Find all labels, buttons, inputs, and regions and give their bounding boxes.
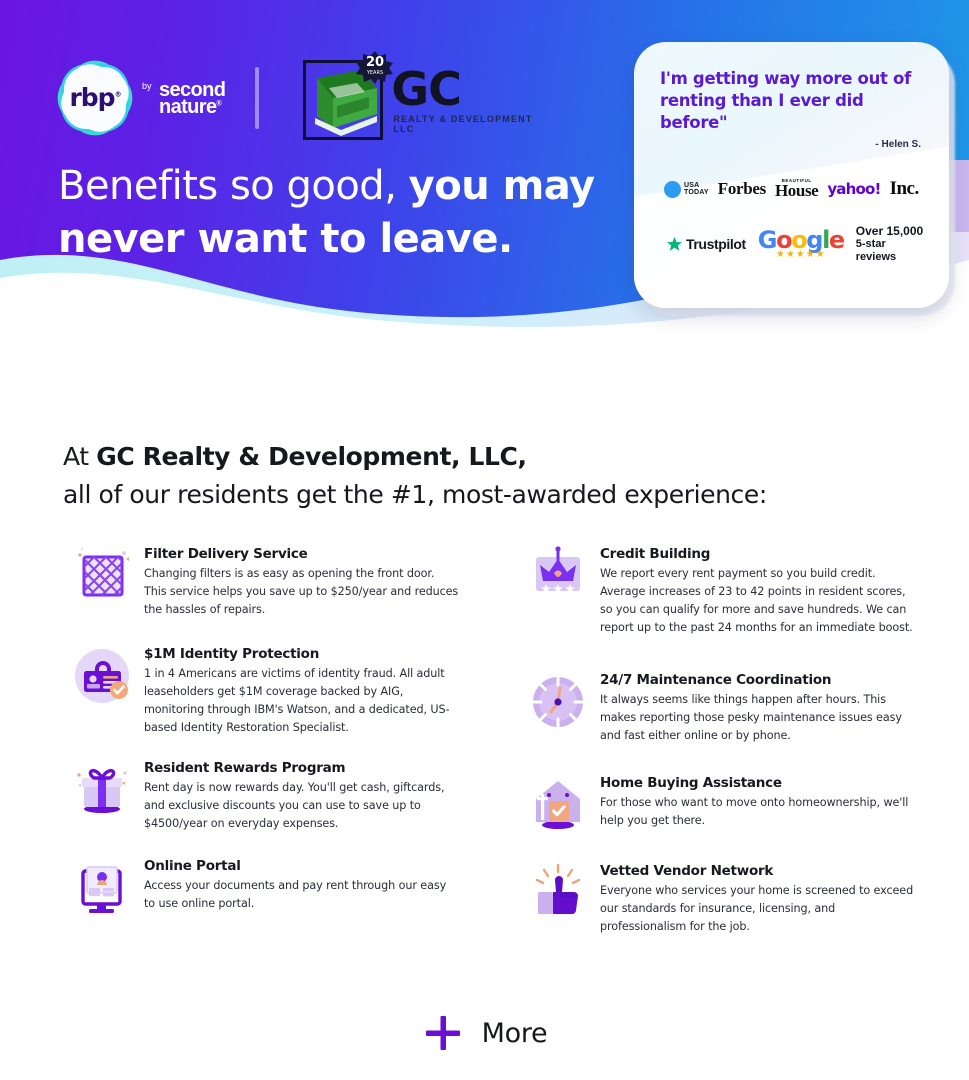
benefit-description: We report every rent payment so you buil…: [600, 565, 916, 637]
reviews-row: Trustpilot Google ★★★★★ Over 15,000 5-st…: [660, 224, 927, 264]
air-filter-icon: [60, 545, 144, 619]
review-count-line1: Over 15,000: [856, 224, 927, 238]
benefit-title: Resident Rewards Program: [144, 760, 460, 776]
review-count: Over 15,000 5-star reviews: [856, 224, 927, 264]
benefit-title: Online Portal: [144, 858, 460, 874]
gc-subtitle: REALTY & DEVELOPMENT LLC: [393, 114, 538, 134]
crown-stars-icon: [516, 545, 600, 637]
usa-today-line1: USA: [684, 182, 709, 189]
benefits-column-right: Credit Building We report every rent pay…: [516, 545, 916, 936]
benefits-column-left: Filter Delivery Service Changing filters…: [60, 545, 460, 917]
forbes-logo: Forbes: [718, 179, 766, 199]
trustpilot-wordmark: Trustpilot: [686, 236, 746, 252]
rbp-wordmark: rbp®: [69, 83, 120, 112]
benefit-identity-protection: $1M Identity Protection 1 in 4 Americans…: [60, 645, 460, 737]
identity-lock-icon: [60, 645, 144, 737]
hero-headline: Benefits so good, you may never want to …: [58, 160, 618, 266]
benefit-description: Changing filters is as easy as opening t…: [144, 565, 460, 619]
trustpilot-star-icon: [666, 236, 683, 253]
svg-text:YEARS: YEARS: [366, 70, 383, 76]
testimonial-attribution: - Helen S.: [660, 139, 927, 150]
gc-initials: GC: [391, 66, 461, 112]
nature-label: nature®: [159, 97, 225, 117]
benefit-description: Access your documents and pay rent throu…: [144, 877, 460, 913]
benefit-filter-delivery: Filter Delivery Service Changing filters…: [60, 545, 460, 619]
benefit-description: For those who want to move onto homeowne…: [600, 794, 916, 830]
marketing-flyer-page: rbp® by second nature®: [0, 0, 969, 1080]
press-logos-row: USA TODAY Forbes BEAUTIFUL House yahoo! …: [660, 178, 927, 200]
benefit-maintenance: 24/7 Maintenance Coordination It always …: [516, 671, 916, 745]
usa-today-dot-icon: [664, 181, 681, 198]
logo-divider: [255, 67, 259, 129]
second-nature-wordmark: by second nature®: [142, 80, 225, 117]
benefit-credit-building: Credit Building We report every rent pay…: [516, 545, 916, 637]
benefit-title: 24/7 Maintenance Coordination: [600, 672, 916, 688]
section-heading: At GC Realty & Development, LLC, all of …: [63, 438, 863, 514]
rbp-logo-mark: rbp®: [58, 61, 132, 135]
gc-realty-logo: 20 YEARS GC REALTY & DEVELOPMENT LLC: [293, 52, 538, 144]
logo-row: rbp® by second nature®: [58, 52, 538, 144]
usa-today-line2: TODAY: [684, 189, 709, 196]
section-heading-line2: all of our residents get the #1, most-aw…: [63, 480, 767, 509]
inc-logo: Inc.: [890, 178, 919, 200]
section-heading-lead: At: [63, 442, 96, 471]
benefit-description: 1 in 4 Americans are victims of identity…: [144, 665, 460, 737]
gift-icon: [60, 759, 144, 833]
review-count-line2: 5-star reviews: [856, 238, 927, 264]
benefit-home-buying: Home Buying Assistance For those who wan…: [516, 774, 916, 834]
benefit-vetted-vendor: Vetted Vendor Network Everyone who servi…: [516, 862, 916, 936]
benefit-description: It always seems like things happen after…: [600, 691, 916, 745]
house-beautiful-logo: BEAUTIFUL House: [775, 179, 818, 201]
by-label: by: [142, 82, 152, 91]
plus-icon[interactable]: [422, 1012, 464, 1054]
monitor-portal-icon: [60, 857, 144, 917]
yahoo-logo: yahoo!: [827, 180, 880, 198]
usa-today-logo: USA TODAY: [664, 181, 709, 198]
house-beautiful-wordmark: House: [775, 181, 818, 200]
section-heading-company: GC Realty & Development, LLC,: [96, 442, 526, 471]
headline-bold-part-1: you may: [409, 163, 595, 209]
more-footer[interactable]: More: [0, 1012, 969, 1054]
benefit-title: Home Buying Assistance: [600, 775, 916, 791]
headline-light-part: Benefits so good,: [58, 163, 409, 209]
house-check-icon: [516, 774, 600, 834]
benefit-resident-rewards: Resident Rewards Program Rent day is now…: [60, 759, 460, 833]
google-logo: Google ★★★★★: [758, 228, 844, 260]
thumbs-up-icon: [516, 862, 600, 936]
benefit-description: Rent day is now rewards day. You'll get …: [144, 779, 460, 833]
more-label: More: [482, 1018, 548, 1049]
benefit-title: Credit Building: [600, 546, 916, 562]
clock-icon: [516, 671, 600, 745]
benefit-online-portal: Online Portal Access your documents and …: [60, 857, 460, 917]
trustpilot-logo: Trustpilot: [666, 236, 746, 253]
testimonial-card: I'm getting way more out of renting than…: [634, 42, 949, 308]
benefit-title: Vetted Vendor Network: [600, 863, 916, 879]
svg-text:20: 20: [366, 55, 384, 70]
benefit-description: Everyone who services your home is scree…: [600, 882, 916, 936]
headline-bold-part-2: never want to leave.: [58, 216, 513, 262]
benefit-title: $1M Identity Protection: [144, 646, 460, 662]
benefit-title: Filter Delivery Service: [144, 546, 460, 562]
testimonial-quote: I'm getting way more out of renting than…: [660, 68, 927, 133]
gc-20-years-badge: 20 YEARS: [355, 50, 395, 84]
